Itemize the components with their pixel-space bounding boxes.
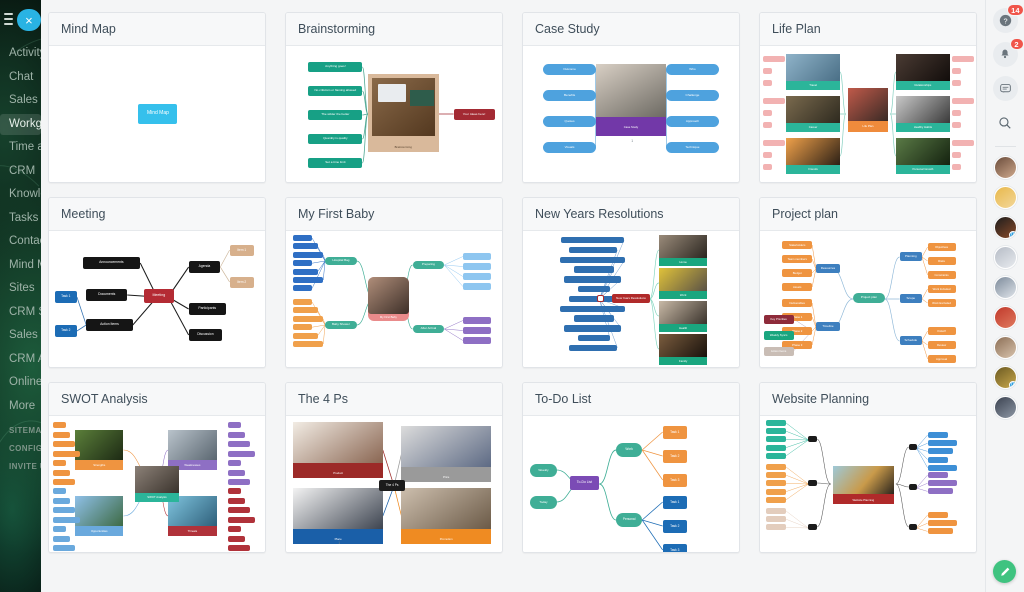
brainstorm-rule-node[interactable]: Quantity is quality bbox=[308, 134, 362, 144]
baby-leaf-node[interactable] bbox=[463, 263, 491, 270]
todo-center-node[interactable]: To-Do List bbox=[570, 476, 600, 490]
avatar-5[interactable] bbox=[994, 276, 1017, 299]
resolutions-center-node[interactable]: New Years Resolutions bbox=[612, 294, 649, 303]
mindmap-card-my-first-baby[interactable]: My First Baby Hospital BagBaby ShowerPre… bbox=[285, 197, 503, 368]
plan-leaf-node[interactable]: Work Excluded bbox=[928, 299, 956, 307]
plan-center-node[interactable]: Project plan bbox=[853, 293, 885, 303]
search-icon[interactable] bbox=[993, 110, 1018, 135]
sidebar-item-contact-center[interactable]: Contact Center bbox=[0, 231, 41, 252]
website-leaf-node[interactable] bbox=[928, 512, 948, 518]
life-plan-tag[interactable] bbox=[952, 80, 961, 86]
mindmap-card-mind-map[interactable]: Mind Map Mind Map bbox=[48, 12, 266, 183]
case-study-node-approach[interactable]: Approach bbox=[666, 116, 718, 127]
plan-leaf-node[interactable]: Work Included bbox=[928, 285, 956, 293]
right-rail: ? 14 2 0 0 bbox=[985, 0, 1024, 592]
life-plan-tag[interactable] bbox=[763, 80, 772, 86]
mindmap-preview[interactable]: New Years Resolutions Home Work Health F… bbox=[523, 231, 739, 367]
baby-leaf-node[interactable] bbox=[463, 327, 491, 334]
life-plan-photo-relationships[interactable]: Relationships bbox=[896, 54, 950, 90]
avatar-2[interactable] bbox=[994, 186, 1017, 209]
swot-item-tag[interactable] bbox=[53, 488, 66, 494]
photo-thumbnail bbox=[293, 422, 382, 463]
swot-item-tag[interactable] bbox=[53, 470, 71, 476]
card-body[interactable]: New Years Resolutions Home Work Health F… bbox=[523, 231, 739, 367]
swot-item-tag[interactable] bbox=[53, 422, 66, 428]
meeting-item-2[interactable]: Item 2 bbox=[230, 277, 254, 288]
swot-item-tag[interactable] bbox=[228, 536, 246, 542]
sidebar-item-mind-maps[interactable]: Mind Maps bbox=[0, 255, 41, 276]
swot-item-tag[interactable] bbox=[228, 460, 241, 466]
card-header: The 4 Ps bbox=[286, 383, 502, 416]
baby-leaf-node[interactable] bbox=[463, 273, 491, 280]
todo-task-node[interactable]: Task 3 bbox=[663, 544, 687, 552]
plan-leaf-node[interactable]: Stakeholders bbox=[782, 241, 812, 249]
baby-leaf-node[interactable] bbox=[293, 333, 317, 339]
life-plan-tag[interactable] bbox=[952, 68, 961, 74]
resolution-bar[interactable] bbox=[578, 286, 610, 292]
sidebar-item-crm-store[interactable]: CRM Store bbox=[0, 302, 41, 323]
photo-thumbnail bbox=[896, 138, 950, 165]
todo-task-node[interactable]: Task 1 bbox=[663, 496, 687, 509]
card-header: Life Plan bbox=[760, 13, 976, 46]
life-plan-tag[interactable] bbox=[763, 164, 772, 170]
sidebar-item-tasks[interactable]: Tasks bbox=[0, 208, 41, 229]
case-study-node-quotes[interactable]: Quotes bbox=[543, 116, 595, 127]
card-header: New Years Resolutions bbox=[523, 198, 739, 231]
card-body[interactable]: ResourcesStakeholdersTeam membersBudgetA… bbox=[760, 231, 976, 367]
swot-item-tag[interactable] bbox=[228, 422, 241, 428]
baby-leaf-node[interactable] bbox=[463, 253, 491, 260]
case-study-node-technique[interactable]: Technique bbox=[666, 142, 718, 153]
baby-center-image[interactable]: My First Baby bbox=[368, 277, 409, 321]
life-plan-tag[interactable] bbox=[763, 68, 772, 74]
baby-leaf-node[interactable] bbox=[293, 341, 323, 347]
baby-branch-baby-shower[interactable]: Baby Shower bbox=[325, 321, 357, 329]
website-connector-node[interactable] bbox=[808, 436, 816, 442]
mindmap-preview[interactable]: ResourcesStakeholdersTeam membersBudgetA… bbox=[760, 231, 976, 367]
baby-leaf-node[interactable] bbox=[293, 235, 312, 241]
mindmap-card-the-4-ps[interactable]: The 4 Ps Product Price Place PromotionTh… bbox=[285, 382, 503, 553]
mindmap-card-brainstorming[interactable]: Brainstorming Anything goes!No criticism… bbox=[285, 12, 503, 183]
card-header: SWOT Analysis bbox=[49, 383, 265, 416]
baby-leaf-node[interactable] bbox=[463, 317, 491, 324]
meeting-node-action-items[interactable]: Action Items bbox=[86, 319, 133, 331]
photo-thumbnail bbox=[368, 277, 409, 314]
todo-branch-personal[interactable]: Personal bbox=[616, 513, 642, 527]
swot-item-tag[interactable] bbox=[53, 460, 66, 466]
notifications-bell-icon[interactable]: 2 bbox=[993, 42, 1018, 67]
compose-fab-button[interactable] bbox=[993, 560, 1016, 583]
plan-leaf-node[interactable]: Constraints bbox=[928, 271, 956, 279]
mindmap-preview[interactable]: WeeklyTodayTo-Do ListWorkTask 1Task 2Tas… bbox=[523, 416, 739, 552]
baby-leaf-node[interactable] bbox=[293, 299, 312, 305]
card-body[interactable]: Strengths Weaknesses Opportunities Threa… bbox=[49, 416, 265, 552]
plan-leaf-node[interactable]: Objectives bbox=[928, 243, 956, 251]
mindmap-preview[interactable]: Hospital BagBaby ShowerPreparingAfter Ar… bbox=[286, 231, 502, 367]
card-title: Case Study bbox=[535, 22, 600, 36]
swot-item-tag[interactable] bbox=[228, 441, 250, 447]
avatar-9[interactable] bbox=[994, 396, 1017, 419]
website-connector-node[interactable] bbox=[909, 524, 917, 530]
website-connector-node[interactable] bbox=[909, 484, 917, 490]
fourps-quadrant-promotion[interactable]: Promotion bbox=[401, 488, 490, 544]
sidebar-configure-menu-link[interactable]: CONFIGURE MENU bbox=[0, 444, 41, 453]
baby-leaf-node[interactable] bbox=[293, 252, 323, 258]
sidebar-item-more[interactable]: More bbox=[0, 396, 41, 417]
life-plan-photo-personal-growth[interactable]: Personal Growth bbox=[896, 138, 950, 174]
life-plan-tag[interactable] bbox=[952, 110, 961, 116]
life-plan-photo-friends[interactable]: Friends bbox=[786, 138, 840, 174]
avatar-4[interactable] bbox=[994, 246, 1017, 269]
plan-branch-resources[interactable]: Resources bbox=[816, 264, 840, 273]
plan-branch-scope[interactable]: Scope bbox=[900, 294, 922, 303]
plan-branch-schedule[interactable]: Schedule bbox=[900, 336, 922, 345]
meeting-node-documents[interactable]: Documents bbox=[86, 289, 127, 301]
todo-task-node[interactable]: Task 3 bbox=[663, 474, 687, 487]
photo-caption: Opportunities bbox=[75, 526, 123, 536]
sidebar-item-sites[interactable]: Sites bbox=[0, 278, 41, 299]
website-connector-node[interactable] bbox=[909, 444, 917, 450]
mindmap-preview[interactable]: Travel Career Friends Relationships Heal… bbox=[760, 46, 976, 182]
meeting-task-2[interactable]: Task 2 bbox=[55, 325, 77, 337]
swot-item-tag[interactable] bbox=[53, 507, 75, 513]
swot-item-tag[interactable] bbox=[228, 470, 246, 476]
swot-item-tag[interactable] bbox=[53, 545, 75, 551]
card-body[interactable]: AnnouncementsDocumentsAction ItemsAgenda… bbox=[49, 231, 265, 367]
website-leaf-node[interactable] bbox=[766, 508, 786, 514]
website-leaf-node[interactable] bbox=[928, 465, 958, 471]
plan-leaf-node[interactable]: Kickoff bbox=[928, 327, 956, 335]
brainstorming-center-image[interactable]: Brainstorming bbox=[368, 74, 439, 152]
case-study-node-benefits[interactable]: Benefits bbox=[543, 90, 595, 101]
plan-leaf-node[interactable]: Approval bbox=[928, 355, 956, 363]
resolution-photo-home[interactable]: Home bbox=[659, 235, 707, 266]
website-leaf-node[interactable] bbox=[928, 432, 948, 438]
chat-messages-icon[interactable] bbox=[993, 76, 1018, 101]
website-leaf-node[interactable] bbox=[766, 464, 786, 470]
sidebar-item-online-store[interactable]: Online Store bbox=[0, 372, 41, 393]
photo-thumbnail bbox=[168, 430, 216, 460]
website-leaf-node[interactable] bbox=[766, 497, 786, 503]
baby-branch-preparing[interactable]: Preparing bbox=[413, 261, 445, 269]
plan-extra-action-items[interactable]: Action Items bbox=[764, 347, 794, 356]
swot-item-tag[interactable] bbox=[53, 451, 80, 457]
life-plan-tag[interactable] bbox=[763, 110, 772, 116]
card-body[interactable]: Travel Career Friends Relationships Heal… bbox=[760, 46, 976, 182]
website-leaf-node[interactable] bbox=[766, 445, 786, 451]
left-sidebar: × Activity Stream Chat Sales Center Work… bbox=[0, 0, 41, 592]
avatar-1[interactable] bbox=[994, 156, 1017, 179]
swot-quadrant-opportunities[interactable]: Opportunities bbox=[75, 496, 123, 536]
brainstorm-rule-node[interactable]: The wilder the better bbox=[308, 110, 362, 120]
meeting-center-node[interactable]: Meeting bbox=[144, 289, 174, 303]
sidebar-item-crm[interactable]: CRM bbox=[0, 161, 41, 182]
photo-caption: Brainstorming bbox=[368, 141, 439, 152]
mindmap-card-meeting[interactable]: Meeting AnnouncementsDocumentsAction Ite… bbox=[48, 197, 266, 368]
sidebar-item-crm-analytics[interactable]: CRM Analytics bbox=[0, 349, 41, 370]
svg-text:?: ? bbox=[1003, 16, 1007, 25]
photo-thumbnail bbox=[596, 64, 667, 117]
swot-item-tag[interactable] bbox=[228, 451, 255, 457]
plan-branch-planning[interactable]: Planning bbox=[900, 252, 922, 261]
life-plan-tag[interactable] bbox=[763, 122, 772, 128]
sidebar-invite-users-link[interactable]: INVITE USERS bbox=[0, 462, 41, 471]
fourps-count: 1 bbox=[331, 540, 348, 548]
photo-caption: Website Planning bbox=[833, 496, 894, 504]
photo-thumbnail bbox=[896, 96, 950, 123]
website-leaf-node[interactable] bbox=[766, 436, 786, 442]
mindmap-card-website-planning[interactable]: Website Planning Website Planning bbox=[759, 382, 977, 553]
avatar-7[interactable] bbox=[994, 336, 1017, 359]
life-plan-photo-healthy-habits[interactable]: Healthy Habits bbox=[896, 96, 950, 132]
resolution-bar[interactable] bbox=[574, 266, 614, 272]
fourps-quadrant-price[interactable]: Price bbox=[401, 426, 490, 482]
website-connector-node[interactable] bbox=[808, 480, 816, 486]
swot-item-tag[interactable] bbox=[53, 498, 71, 504]
meeting-node-agenda[interactable]: Agenda bbox=[189, 261, 221, 273]
life-plan-tag[interactable] bbox=[952, 152, 961, 158]
meeting-node-participants[interactable]: Participants bbox=[189, 303, 226, 315]
case-study-node-who[interactable]: Who bbox=[666, 64, 718, 75]
todo-task-node[interactable]: Task 2 bbox=[663, 520, 687, 533]
baby-branch-after-arrival[interactable]: After Arrival bbox=[413, 325, 445, 333]
mindmap-preview[interactable]: Anything goes!No criticism or flaming al… bbox=[286, 46, 502, 182]
swot-quadrant-threats[interactable]: Threats bbox=[168, 496, 216, 536]
life-plan-tag[interactable] bbox=[952, 122, 961, 128]
photo-caption: Product bbox=[293, 468, 382, 478]
swot-quadrant-strengths[interactable]: Strengths bbox=[75, 430, 123, 470]
mindmap-card-case-study[interactable]: Case Study OutcomeBenefitsQuotesVisualsW… bbox=[522, 12, 740, 183]
help-badge: 14 bbox=[1007, 4, 1023, 16]
sidebar-nav: Activity Stream Chat Sales Center Workgr… bbox=[0, 43, 41, 471]
sidebar-item-sales-center[interactable]: Sales Center bbox=[0, 90, 41, 111]
sidebar-item-workgroups[interactable]: Workgroups bbox=[0, 114, 41, 135]
swot-item-tag[interactable] bbox=[53, 536, 71, 542]
website-leaf-node[interactable] bbox=[928, 448, 953, 454]
website-connector-node[interactable] bbox=[808, 524, 816, 530]
resolution-photo-health[interactable]: Health bbox=[659, 301, 707, 332]
card-body[interactable]: Mind Map bbox=[49, 46, 265, 182]
life-plan-photo-career[interactable]: Career bbox=[786, 96, 840, 132]
swot-item-tag[interactable] bbox=[53, 517, 80, 523]
menu-hamburger-icon[interactable] bbox=[4, 13, 13, 28]
help-icon[interactable]: ? 14 bbox=[993, 8, 1018, 33]
avatar-3[interactable]: 0 bbox=[994, 216, 1017, 239]
card-body[interactable]: Hospital BagBaby ShowerPreparingAfter Ar… bbox=[286, 231, 502, 367]
baby-leaf-node[interactable] bbox=[293, 324, 312, 330]
life-plan-tag[interactable] bbox=[952, 140, 974, 146]
avatar-status-badge: 0 bbox=[1009, 231, 1017, 239]
baby-leaf-node[interactable] bbox=[293, 277, 323, 283]
plan-leaf-node[interactable]: Assets bbox=[782, 283, 812, 291]
sidebar-item-chat[interactable]: Chat bbox=[0, 67, 41, 88]
baby-leaf-node[interactable] bbox=[293, 260, 312, 266]
mindmap-card-project-plan[interactable]: Project plan ResourcesStakeholdersTeam m… bbox=[759, 197, 977, 368]
plan-leaf-node[interactable]: Risks bbox=[928, 257, 956, 265]
life-plan-tag[interactable] bbox=[952, 164, 961, 170]
baby-leaf-node[interactable] bbox=[293, 316, 323, 322]
resolution-bar[interactable] bbox=[574, 315, 614, 321]
card-body[interactable]: Product Price Place PromotionThe 4 Ps1 bbox=[286, 416, 502, 552]
mindmap-preview[interactable]: OutcomeBenefitsQuotesVisualsWhoChallenge… bbox=[523, 46, 739, 182]
brainstorm-rule-node[interactable]: Anything goes! bbox=[308, 62, 362, 72]
avatar-8[interactable]: 0 bbox=[994, 366, 1017, 389]
plan-leaf-node[interactable]: Deliverables bbox=[782, 299, 812, 307]
resolution-bar[interactable] bbox=[561, 237, 624, 243]
life-plan-center[interactable]: Life Plan bbox=[848, 88, 889, 132]
mindmap-card-swot-analysis[interactable]: SWOT Analysis Strengths Weaknesses Oppor… bbox=[48, 382, 266, 553]
brainstorm-rule-node[interactable]: No criticism or flaming allowed bbox=[308, 86, 362, 96]
sidebar-item-activity-stream[interactable]: Activity Stream bbox=[0, 43, 41, 64]
case-study-node-outcome[interactable]: Outcome bbox=[543, 64, 595, 75]
mindmap-card-life-plan[interactable]: Life Plan Travel Career Friends Relation… bbox=[759, 12, 977, 183]
card-body[interactable]: Website Planning bbox=[760, 416, 976, 552]
resolution-bar[interactable] bbox=[569, 296, 617, 302]
case-study-node-visuals[interactable]: Visuals bbox=[543, 142, 595, 153]
resolution-bar[interactable] bbox=[569, 247, 617, 253]
mindmap-preview[interactable]: Website Planning bbox=[760, 416, 976, 552]
plan-leaf-node[interactable]: Budget bbox=[782, 269, 812, 277]
map-node-root[interactable]: Mind Map bbox=[138, 104, 177, 124]
card-header: Project plan bbox=[760, 198, 976, 231]
resolution-bar[interactable] bbox=[578, 335, 610, 341]
sidebar-item-knowledge-base[interactable]: Knowledge base bbox=[0, 184, 41, 205]
meeting-node-announcements[interactable]: Announcements bbox=[83, 257, 141, 269]
meeting-node-discussion[interactable]: Discussion bbox=[189, 329, 223, 341]
website-leaf-node[interactable] bbox=[766, 420, 786, 426]
plan-extra-key-priorities[interactable]: Key Priorities bbox=[764, 315, 794, 324]
swot-item-tag[interactable] bbox=[228, 498, 246, 504]
avatar-6[interactable] bbox=[994, 306, 1017, 329]
case-study-center-image[interactable]: Case Study bbox=[596, 64, 667, 136]
sidebar-item-sales-intelligence[interactable]: Sales Intelligence bbox=[0, 325, 41, 346]
fourps-quadrant-product[interactable]: Product bbox=[293, 422, 382, 478]
card-body[interactable]: WeeklyTodayTo-Do ListWorkTask 1Task 2Tas… bbox=[523, 416, 739, 552]
todo-task-node[interactable]: Task 1 bbox=[663, 426, 687, 439]
website-leaf-node[interactable] bbox=[928, 457, 948, 463]
life-plan-tag[interactable] bbox=[763, 152, 772, 158]
life-plan-tag[interactable] bbox=[952, 56, 974, 62]
photo-thumbnail bbox=[75, 430, 123, 460]
life-plan-tag[interactable] bbox=[763, 98, 785, 104]
fourps-quadrant-place[interactable]: Place bbox=[293, 488, 382, 544]
todo-left-today[interactable]: Today bbox=[530, 496, 556, 509]
life-plan-tag[interactable] bbox=[952, 98, 974, 104]
mindmap-preview[interactable]: Mind Map bbox=[49, 46, 265, 182]
website-leaf-node[interactable] bbox=[928, 472, 948, 478]
resolutions-sub-node[interactable] bbox=[597, 295, 604, 302]
mindmap-preview[interactable]: Strengths Weaknesses Opportunities Threa… bbox=[49, 416, 265, 552]
sidebar-item-time-and-reports[interactable]: Time and Reports bbox=[0, 137, 41, 158]
mindmap-preview[interactable]: Product Price Place PromotionThe 4 Ps1 bbox=[286, 416, 502, 552]
photo-caption: Life Plan bbox=[848, 121, 889, 132]
swot-item-tag[interactable] bbox=[53, 526, 66, 532]
baby-leaf-node[interactable] bbox=[463, 283, 491, 290]
life-plan-tag[interactable] bbox=[763, 56, 785, 62]
website-leaf-node[interactable] bbox=[766, 453, 786, 459]
mindmap-card-new-years-resolutions[interactable]: New Years Resolutions New Years Resoluti… bbox=[522, 197, 740, 368]
swot-quadrant-weaknesses[interactable]: Weaknesses bbox=[168, 430, 216, 470]
swot-item-tag[interactable] bbox=[228, 479, 250, 485]
swot-item-tag[interactable] bbox=[228, 432, 246, 438]
website-leaf-node[interactable] bbox=[928, 528, 953, 534]
baby-leaf-node[interactable] bbox=[293, 307, 317, 313]
website-leaf-node[interactable] bbox=[928, 480, 958, 486]
brainstorm-rule-node[interactable]: Set a time limit bbox=[308, 158, 362, 168]
website-leaf-node[interactable] bbox=[766, 480, 786, 486]
swot-item-tag[interactable] bbox=[228, 517, 255, 523]
resolution-bar[interactable] bbox=[560, 257, 625, 263]
photo-thumbnail bbox=[401, 426, 490, 467]
swot-item-tag[interactable] bbox=[53, 479, 75, 485]
plan-leaf-node[interactable]: Team members bbox=[782, 255, 812, 263]
sidebar-top-controls: × bbox=[0, 0, 41, 31]
swot-item-tag[interactable] bbox=[53, 441, 75, 447]
website-leaf-node[interactable] bbox=[766, 472, 786, 478]
todo-task-node[interactable]: Task 2 bbox=[663, 450, 687, 463]
baby-leaf-node[interactable] bbox=[463, 337, 491, 344]
close-icon[interactable]: × bbox=[17, 9, 41, 31]
baby-leaf-node[interactable] bbox=[293, 243, 317, 249]
baby-leaf-node[interactable] bbox=[293, 285, 312, 291]
website-center-image[interactable]: Website Planning bbox=[833, 466, 894, 504]
notifications-badge: 2 bbox=[1010, 38, 1024, 50]
website-leaf-node[interactable] bbox=[766, 516, 786, 522]
website-leaf-node[interactable] bbox=[766, 428, 786, 434]
todo-left-weekly[interactable]: Weekly bbox=[530, 464, 556, 477]
swot-item-tag[interactable] bbox=[53, 432, 71, 438]
mindmap-preview[interactable]: AnnouncementsDocumentsAction ItemsAgenda… bbox=[49, 231, 265, 367]
baby-leaf-node[interactable] bbox=[293, 269, 317, 275]
plan-branch-timeline[interactable]: Timeline bbox=[816, 322, 840, 331]
plan-extra-weekly-syncs[interactable]: Weekly Syncs bbox=[764, 331, 794, 340]
baby-branch-hospital-bag[interactable]: Hospital Bag bbox=[325, 257, 357, 265]
resolution-bar[interactable] bbox=[569, 345, 617, 351]
resolution-photo-family[interactable]: Family bbox=[659, 334, 707, 365]
life-plan-tag[interactable] bbox=[763, 140, 785, 146]
life-plan-photo-travel[interactable]: Travel bbox=[786, 54, 840, 90]
todo-branch-work[interactable]: Work bbox=[616, 443, 642, 457]
resolution-photo-work[interactable]: Work bbox=[659, 268, 707, 299]
case-study-node-challenge[interactable]: Challenge bbox=[666, 90, 718, 101]
swot-item-tag[interactable] bbox=[228, 545, 250, 551]
resolution-bar[interactable] bbox=[560, 306, 625, 312]
sidebar-sitemap-link[interactable]: SITEMAP bbox=[0, 426, 41, 435]
website-leaf-node[interactable] bbox=[766, 524, 786, 530]
website-leaf-node[interactable] bbox=[928, 440, 958, 446]
card-body[interactable]: Anything goes!No criticism or flaming al… bbox=[286, 46, 502, 182]
website-leaf-node[interactable] bbox=[928, 520, 958, 526]
fourps-center-node[interactable]: The 4 Ps bbox=[379, 480, 405, 491]
website-leaf-node[interactable] bbox=[928, 488, 953, 494]
photo-caption: Home bbox=[659, 258, 707, 266]
swot-center-image[interactable]: SWOT Analysis bbox=[135, 466, 180, 502]
plan-leaf-node[interactable]: Review bbox=[928, 341, 956, 349]
swot-item-tag[interactable] bbox=[228, 507, 250, 513]
meeting-item-1[interactable]: Item 1 bbox=[230, 245, 254, 256]
meeting-task-1[interactable]: Task 1 bbox=[55, 291, 77, 303]
brainstorm-idea-node[interactable]: Your Ideas here! bbox=[454, 109, 495, 120]
mindmap-card-to-do-list[interactable]: To-Do List WeeklyTodayTo-Do ListWorkTask… bbox=[522, 382, 740, 553]
resolution-bar[interactable] bbox=[564, 325, 621, 331]
card-body[interactable]: OutcomeBenefitsQuotesVisualsWhoChallenge… bbox=[523, 46, 739, 182]
website-leaf-node[interactable] bbox=[766, 489, 786, 495]
swot-item-tag[interactable] bbox=[228, 488, 241, 494]
swot-item-tag[interactable] bbox=[228, 526, 241, 532]
resolution-bar[interactable] bbox=[564, 276, 621, 282]
card-title: Life Plan bbox=[772, 22, 821, 36]
card-header: My First Baby bbox=[286, 198, 502, 231]
